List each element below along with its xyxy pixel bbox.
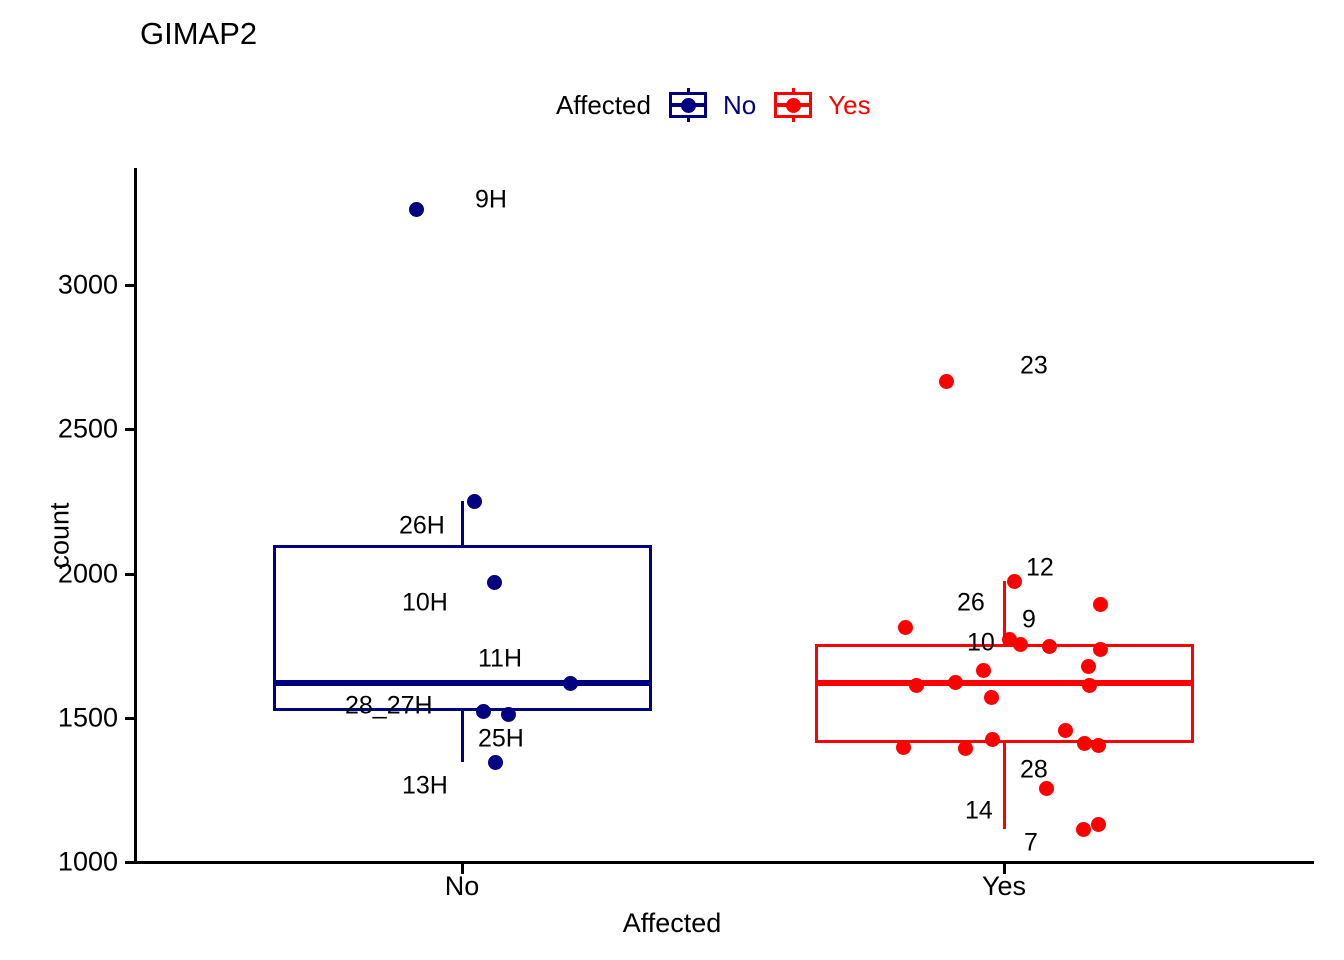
x-tick-label-yes: Yes	[982, 871, 1026, 902]
legend-label-yes: Yes	[828, 90, 870, 121]
data-point-label: 9	[1022, 606, 1036, 635]
data-point[interactable]	[488, 755, 503, 770]
box-glyph-icon	[665, 88, 711, 122]
data-point[interactable]	[1076, 822, 1091, 837]
data-point[interactable]	[501, 707, 516, 722]
y-tick-mark	[125, 284, 135, 287]
y-tick-label: 3000	[0, 270, 118, 301]
data-point-label: 26H	[399, 512, 445, 541]
data-point[interactable]	[898, 620, 913, 635]
data-point-label: 26	[957, 589, 985, 618]
y-axis-line	[134, 168, 137, 864]
y-tick-mark	[125, 861, 135, 864]
data-point-label: 11H	[478, 645, 522, 674]
data-point[interactable]	[939, 374, 954, 389]
data-point[interactable]	[487, 575, 502, 590]
data-point-label: 28	[1020, 756, 1048, 785]
data-point[interactable]	[985, 732, 1000, 747]
data-point[interactable]	[984, 690, 999, 705]
data-point[interactable]	[948, 675, 963, 690]
data-point[interactable]	[896, 740, 911, 755]
median-line	[273, 680, 652, 686]
box-glyph-icon	[770, 88, 816, 122]
x-tick-mark	[461, 864, 464, 874]
y-tick-label: 2000	[0, 558, 118, 589]
y-tick-mark	[125, 717, 135, 720]
data-point-label: 12	[1026, 554, 1054, 583]
data-point-label: 7	[1024, 829, 1038, 858]
data-point[interactable]	[409, 202, 424, 217]
box-iqr	[815, 644, 1194, 743]
y-tick-label: 2500	[0, 414, 118, 445]
legend-title: Affected	[556, 90, 651, 121]
lower-whisker	[1003, 743, 1006, 829]
box-iqr	[273, 545, 652, 711]
data-point[interactable]	[1093, 597, 1108, 612]
x-tick-mark	[1003, 864, 1006, 874]
y-tick-mark	[125, 573, 135, 576]
x-tick-label-no: No	[445, 871, 480, 902]
upper-whisker	[461, 501, 464, 544]
data-point[interactable]	[958, 741, 973, 756]
data-point[interactable]	[467, 494, 482, 509]
data-point-label: 28_27H	[345, 692, 433, 721]
chart-title: GIMAP2	[140, 16, 257, 52]
data-point[interactable]	[1091, 738, 1106, 753]
data-point-label: 10	[967, 629, 995, 658]
boxplot-figure: GIMAP2 Affected No Yes count Affected 10…	[0, 0, 1344, 960]
y-tick-label: 1000	[0, 847, 118, 878]
y-tick-label: 1500	[0, 702, 118, 733]
data-point[interactable]	[1007, 574, 1022, 589]
y-tick-mark	[125, 428, 135, 431]
data-point[interactable]	[476, 704, 491, 719]
data-point-label: 25H	[478, 725, 524, 754]
data-point[interactable]	[1042, 639, 1057, 654]
data-point[interactable]	[1093, 642, 1108, 657]
data-point-label: 14	[965, 797, 993, 826]
data-point[interactable]	[1081, 659, 1096, 674]
data-point-label: 13H	[402, 772, 448, 801]
x-axis-label: Affected	[0, 908, 1344, 939]
legend-key-no[interactable]: No	[665, 88, 756, 122]
data-point[interactable]	[1058, 723, 1073, 738]
legend-key-yes[interactable]: Yes	[770, 88, 870, 122]
median-line	[815, 680, 1194, 686]
legend: Affected No Yes	[556, 88, 871, 122]
data-point-label: 10H	[402, 589, 448, 618]
legend-label-no: No	[723, 90, 756, 121]
data-point-label: 9H	[475, 186, 507, 215]
data-point[interactable]	[1091, 817, 1106, 832]
x-axis-line	[134, 861, 1314, 864]
data-point-label: 23	[1020, 352, 1048, 381]
lower-whisker	[461, 711, 464, 762]
data-point[interactable]	[1077, 736, 1092, 751]
